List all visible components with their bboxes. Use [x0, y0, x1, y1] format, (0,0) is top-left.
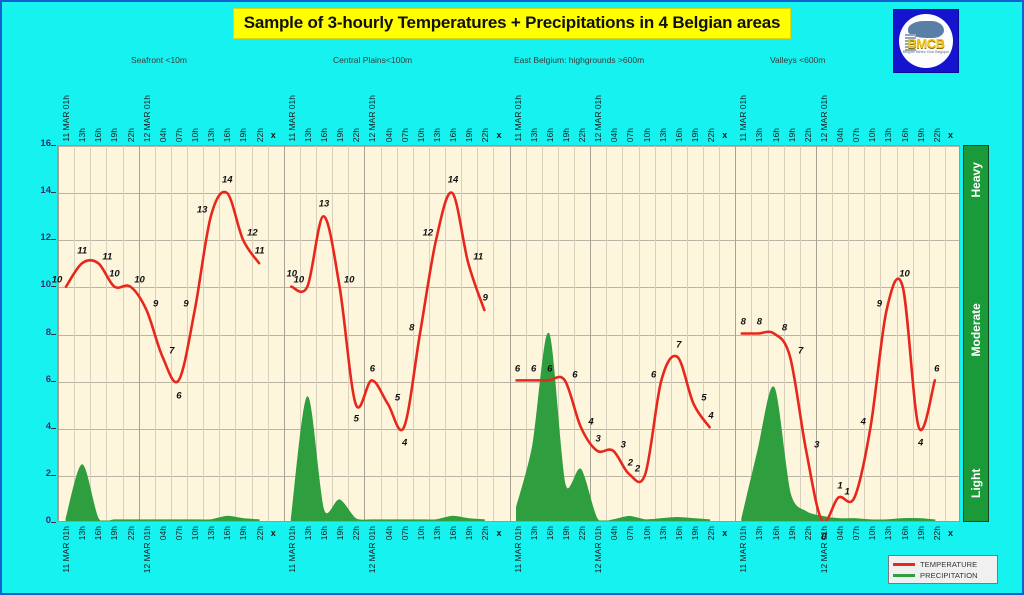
x-axis-tick-label: 19h: [916, 128, 926, 142]
temperature-value-label: 2: [635, 463, 640, 474]
x-axis-tick-label: 13h: [883, 526, 893, 540]
temperature-value-label: 10: [134, 275, 145, 286]
legend-item: PRECIPITATION: [893, 570, 993, 581]
temperature-value-label: 9: [183, 298, 188, 309]
x-axis-tick-label: 10h: [867, 526, 877, 540]
temperature-value-label: 6: [572, 369, 577, 380]
title-container: Sample of 3-hourly Temperatures + Precip…: [0, 8, 1024, 39]
temperature-value-label: 11: [77, 245, 87, 256]
x-axis-tick-label: 04h: [158, 526, 168, 540]
x-axis-tick-label: 19h: [238, 128, 248, 142]
y-axis-tick-mark: [51, 192, 56, 193]
x-axis-tick-label: 04h: [835, 526, 845, 540]
x-axis-tick-label: 22h: [351, 128, 361, 142]
x-axis-tick-label: 16h: [900, 526, 910, 540]
temperature-value-label: 6: [651, 369, 656, 380]
x-axis-tick-label: 10h: [642, 526, 652, 540]
temperature-value-label: 1: [845, 487, 850, 498]
plot-area: 1011111010976913141211101013105654812141…: [57, 145, 960, 522]
x-axis-tick-label: 19h: [464, 526, 474, 540]
x-axis-tick-label: 04h: [158, 128, 168, 142]
x-axis-tick-label: 22h: [803, 128, 813, 142]
temperature-value-label: 8: [757, 316, 762, 327]
panel-separator-marker: x: [271, 528, 276, 538]
x-axis-tick-label: 19h: [464, 128, 474, 142]
panel-separator-marker: x: [496, 528, 501, 538]
temperature-value-label: 7: [169, 346, 174, 357]
temperature-value-label: 8: [741, 316, 746, 327]
x-axis-tick-label: 12 MAR 01h: [142, 95, 152, 142]
y-axis-tick-label: 12: [5, 232, 51, 243]
y-axis-tick-mark: [51, 475, 56, 476]
x-axis-tick-label: 13h: [77, 128, 87, 142]
x-axis-tick-label: 11 MAR 01h: [61, 526, 71, 573]
temperature-value-label: 10: [344, 275, 355, 286]
precipitation-area: [291, 397, 484, 521]
panel-separator-marker: x: [496, 130, 501, 140]
temperature-value-label: 0: [821, 532, 826, 543]
region-label: East Belgium: highgrounds >600m: [514, 55, 644, 65]
y-axis-tick-label: 16: [5, 138, 51, 149]
x-axis-tick-label: 16h: [319, 526, 329, 540]
x-axis-tick-label: 22h: [126, 128, 136, 142]
temperature-value-label: 11: [255, 245, 265, 256]
region-label: Valleys <600m: [770, 55, 825, 65]
x-axis-tick-label: 22h: [577, 526, 587, 540]
chart-canvas: [58, 146, 959, 521]
x-axis-tick-label: 04h: [609, 526, 619, 540]
precipitation-area: [66, 465, 259, 521]
x-axis-tick-label: 16h: [771, 128, 781, 142]
temperature-value-label: 7: [676, 340, 681, 351]
page-title: Sample of 3-hourly Temperatures + Precip…: [233, 8, 792, 39]
legend-label: TEMPERATURE: [920, 560, 977, 569]
y-axis: 0246810121416: [0, 145, 51, 522]
temperature-value-label: 7: [798, 346, 803, 357]
x-axis-tick-label: 13h: [432, 526, 442, 540]
temperature-value-label: 10: [899, 269, 910, 280]
x-axis-tick-label: 22h: [126, 526, 136, 540]
x-axis-tick-label: 22h: [706, 526, 716, 540]
x-axis-tick-label: 13h: [658, 526, 668, 540]
x-axis-tick-label: 19h: [238, 526, 248, 540]
temperature-value-label: 4: [861, 416, 866, 427]
x-axis-tick-label: 22h: [480, 526, 490, 540]
x-axis-tick-label: 13h: [529, 526, 539, 540]
y-axis-tick-mark: [51, 428, 56, 429]
temperature-value-label: 3: [596, 434, 601, 445]
temperature-value-label: 6: [370, 363, 375, 374]
x-axis-tick-label: 07h: [851, 128, 861, 142]
temperature-line: [66, 192, 259, 382]
x-axis-tick-label: 11 MAR 01h: [738, 526, 748, 573]
x-axis-tick-label: 13h: [658, 128, 668, 142]
x-axis-tick-label: 16h: [674, 526, 684, 540]
x-axis-tick-label: 16h: [93, 526, 103, 540]
x-axis-tick-label: 16h: [900, 128, 910, 142]
temperature-value-label: 14: [222, 175, 233, 186]
temperature-value-label: 6: [547, 363, 552, 374]
x-axis-tick-label: 22h: [255, 526, 265, 540]
x-axis-tick-label: 16h: [319, 128, 329, 142]
temperature-value-label: 9: [877, 298, 882, 309]
temperature-value-label: 1: [837, 481, 842, 492]
temperature-value-label: 3: [814, 440, 819, 451]
x-axis-tick-label: 07h: [851, 526, 861, 540]
temperature-value-label: 5: [354, 414, 359, 425]
x-axis-tick-label: 13h: [77, 526, 87, 540]
x-axis-tick-label: 13h: [432, 128, 442, 142]
temperature-value-label: 4: [588, 416, 593, 427]
temperature-value-label: 8: [782, 322, 787, 333]
x-axis-tick-label: 10h: [190, 526, 200, 540]
legend-item: TEMPERATURE: [893, 559, 993, 570]
x-axis-tick-label: 10h: [190, 128, 200, 142]
panel-separator-marker: x: [722, 130, 727, 140]
x-axis-labels-top: 11 MAR 01h13h16h19h22h12 MAR 01h04h07h10…: [57, 78, 960, 142]
temperature-value-label: 4: [402, 437, 407, 448]
temperature-value-label: 6: [934, 363, 939, 374]
x-axis-tick-label: 13h: [303, 128, 313, 142]
temperature-value-label: 12: [423, 228, 434, 239]
y-axis-tick-label: 2: [5, 468, 51, 479]
x-axis-tick-label: 07h: [625, 128, 635, 142]
y-axis-tick-mark: [51, 381, 56, 382]
x-axis-tick-label: 13h: [303, 526, 313, 540]
x-axis-tick-label: 16h: [222, 128, 232, 142]
x-axis-tick-label: 19h: [787, 128, 797, 142]
x-axis-tick-label: 16h: [771, 526, 781, 540]
temperature-value-label: 11: [102, 251, 112, 262]
logo-circle: BMCB Belgian Meteo Club Belgique: [899, 14, 953, 68]
x-axis-tick-label: 04h: [835, 128, 845, 142]
temperature-value-label: 12: [247, 228, 258, 239]
x-axis-tick-label: 19h: [335, 526, 345, 540]
y-axis-tick-label: 8: [5, 327, 51, 338]
temperature-line: [291, 193, 484, 431]
x-axis-tick-label: 10h: [867, 128, 877, 142]
temperature-value-label: 10: [109, 269, 120, 280]
x-axis-tick-label: 16h: [93, 128, 103, 142]
x-axis-tick-label: 07h: [174, 128, 184, 142]
temperature-value-label: 2: [628, 457, 633, 468]
y-axis-tick-mark: [51, 334, 56, 335]
panel-separator-marker: x: [722, 528, 727, 538]
intensity-segment-heavy: Heavy: [964, 146, 988, 214]
temperature-value-label: 13: [319, 198, 330, 209]
x-axis-tick-label: 11 MAR 01h: [513, 95, 523, 142]
x-axis-tick-label: 22h: [706, 128, 716, 142]
temperature-value-label: 6: [176, 390, 181, 401]
legend-label: PRECIPITATION: [920, 571, 978, 580]
x-axis-tick-label: 16h: [448, 128, 458, 142]
x-axis-tick-label: 12 MAR 01h: [819, 95, 829, 142]
panel-separator-marker: x: [948, 528, 953, 538]
temperature-value-label: 9: [153, 298, 158, 309]
x-axis-tick-label: 13h: [754, 128, 764, 142]
x-axis-tick-label: 16h: [674, 128, 684, 142]
x-axis-tick-label: 22h: [351, 526, 361, 540]
y-axis-tick-label: 6: [5, 374, 51, 385]
temperature-value-label: 8: [409, 322, 414, 333]
x-axis-tick-label: 19h: [787, 526, 797, 540]
temperature-value-label: 13: [197, 204, 208, 215]
precipitation-area: [742, 387, 935, 521]
region-label: Seafront <10m: [131, 55, 187, 65]
x-axis-tick-label: 16h: [222, 526, 232, 540]
region-label: Central Plains<100m: [333, 55, 412, 65]
temperature-value-label: 9: [483, 292, 488, 303]
x-axis-tick-label: 07h: [174, 526, 184, 540]
x-axis-tick-label: 22h: [932, 128, 942, 142]
gridline-horizontal: [58, 523, 959, 524]
y-axis-tick-label: 4: [5, 421, 51, 432]
x-axis-tick-label: 07h: [400, 526, 410, 540]
x-axis-tick-label: 16h: [448, 526, 458, 540]
x-axis-tick-label: 19h: [109, 128, 119, 142]
x-axis-tick-label: 12 MAR 01h: [593, 95, 603, 142]
panel-separator-marker: x: [271, 130, 276, 140]
x-axis-tick-label: 13h: [529, 128, 539, 142]
x-axis-tick-label: 11 MAR 01h: [61, 95, 71, 142]
x-axis-tick-label: 13h: [883, 128, 893, 142]
legend-color-swatch: [893, 574, 915, 577]
x-axis-tick-label: 10h: [416, 128, 426, 142]
x-axis-tick-label: 11 MAR 01h: [287, 526, 297, 573]
temperature-value-label: 3: [621, 440, 626, 451]
x-axis-tick-label: 11 MAR 01h: [738, 95, 748, 142]
intensity-segment-light: Light: [964, 446, 988, 521]
x-axis-tick-label: 16h: [545, 526, 555, 540]
x-axis-tick-label: 22h: [803, 526, 813, 540]
legend: TEMPERATUREPRECIPITATION: [888, 555, 998, 584]
x-axis-tick-label: 19h: [109, 526, 119, 540]
x-axis-tick-label: 13h: [206, 526, 216, 540]
temperature-value-label: 6: [515, 363, 520, 374]
temperature-value-label: 10: [294, 275, 305, 286]
x-axis-tick-label: 10h: [642, 128, 652, 142]
x-axis-tick-label: 19h: [335, 128, 345, 142]
x-axis-tick-label: 12 MAR 01h: [367, 526, 377, 573]
x-axis-tick-label: 10h: [416, 526, 426, 540]
y-axis-tick-mark: [51, 522, 56, 523]
x-axis-tick-label: 19h: [916, 526, 926, 540]
y-axis-tick-mark: [51, 239, 56, 240]
temperature-value-label: 10: [52, 275, 63, 286]
y-axis-tick-label: 10: [5, 279, 51, 290]
temperature-value-label: 4: [918, 437, 923, 448]
x-axis-tick-label: 22h: [577, 128, 587, 142]
y-axis-tick-label: 14: [5, 185, 51, 196]
x-axis-tick-label: 12 MAR 01h: [593, 526, 603, 573]
x-axis-tick-label: 13h: [754, 526, 764, 540]
x-axis-tick-label: 22h: [480, 128, 490, 142]
panel-separator-marker: x: [948, 130, 953, 140]
legend-color-swatch: [893, 563, 915, 566]
temperature-value-label: 5: [395, 393, 400, 404]
x-axis-tick-label: 19h: [561, 526, 571, 540]
x-axis-tick-label: 12 MAR 01h: [142, 526, 152, 573]
temperature-value-label: 11: [473, 251, 483, 262]
x-axis-tick-label: 16h: [545, 128, 555, 142]
x-axis-tick-label: 22h: [255, 128, 265, 142]
x-axis-tick-label: 22h: [932, 526, 942, 540]
x-axis-tick-label: 11 MAR 01h: [287, 95, 297, 142]
logo-subtitle: Belgian Meteo Club Belgique: [899, 50, 953, 54]
x-axis-tick-label: 07h: [400, 128, 410, 142]
x-axis-tick-label: 04h: [609, 128, 619, 142]
temperature-value-label: 5: [701, 393, 706, 404]
logo-text: BMCB: [899, 36, 953, 51]
x-axis-tick-label: 12 MAR 01h: [367, 95, 377, 142]
temperature-value-label: 14: [448, 175, 459, 186]
y-axis-tick-label: 0: [5, 515, 51, 526]
x-axis-tick-label: 11 MAR 01h: [513, 526, 523, 573]
precipitation-intensity-scale: HeavyModerateLight: [963, 145, 989, 522]
y-axis-tick-mark: [51, 145, 56, 146]
x-axis-tick-label: 13h: [206, 128, 216, 142]
x-axis-tick-label: 07h: [625, 526, 635, 540]
temperature-value-label: 4: [708, 410, 713, 421]
x-axis-tick-label: 19h: [690, 526, 700, 540]
intensity-segment-moderate: Moderate: [964, 214, 988, 447]
x-axis-tick-label: 19h: [690, 128, 700, 142]
temperature-value-label: 6: [531, 363, 536, 374]
y-axis-tick-mark: [51, 286, 56, 287]
x-axis-tick-label: 04h: [384, 526, 394, 540]
x-axis-tick-label: 04h: [384, 128, 394, 142]
bmcb-logo: BMCB Belgian Meteo Club Belgique: [893, 9, 959, 73]
x-axis-tick-label: 19h: [561, 128, 571, 142]
